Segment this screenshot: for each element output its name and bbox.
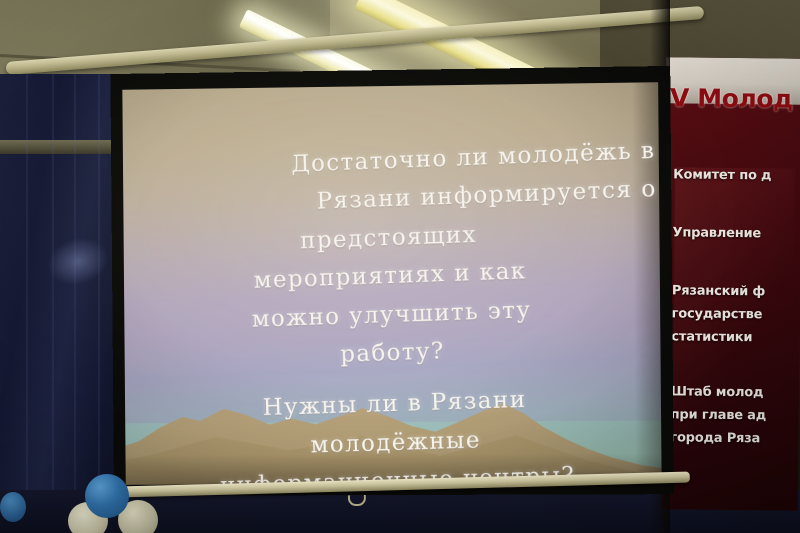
slide-text-block: Достаточно ли молодёжь в Рязани информир… xyxy=(122,82,661,485)
projection-screen-surface: Достаточно ли молодёжь в Рязани информир… xyxy=(122,82,661,485)
banner-line-8: города Ряза xyxy=(670,430,760,446)
balloon-blue xyxy=(85,474,129,518)
banner-line-7: при главе ад xyxy=(671,407,767,423)
curtain-fold xyxy=(98,74,100,533)
slide-line-1: Достаточно ли молодёжь в xyxy=(122,137,661,184)
slide-line-7: Нужны ли в Рязани xyxy=(128,382,662,425)
banner-line-6: Штаб молод xyxy=(671,384,764,400)
curtain-fold xyxy=(26,74,28,533)
slide-line-6: работу? xyxy=(126,331,662,375)
window-curtain xyxy=(0,74,122,533)
banner-line-3: Рязанский ф xyxy=(672,283,765,299)
curtain-fold xyxy=(52,74,54,533)
banner-line-5: статистики xyxy=(671,329,752,345)
banner-line-1: Комитет по д xyxy=(673,167,771,183)
banner-title: V Молод xyxy=(670,83,793,113)
curtain-rod xyxy=(0,140,122,154)
curtain-fold xyxy=(74,74,76,533)
slide-line-3: предстоящих xyxy=(122,215,658,260)
banner-line-2: Управление xyxy=(672,225,761,241)
banner-line-4: государстве xyxy=(672,306,763,322)
balloon-blue-small xyxy=(0,492,26,522)
event-banner: V Молод Комитет по д Управление Рязански… xyxy=(662,57,800,510)
photo-scene: V Молод Комитет по д Управление Рязански… xyxy=(0,0,800,533)
slide-line-2: Рязани информируется о xyxy=(122,175,661,222)
slide-line-8: молодёжные xyxy=(129,422,661,464)
slide-line-5: можно улучшить эту xyxy=(125,293,661,337)
slide-line-4: мероприятиях и как xyxy=(123,253,659,298)
projection-screen: Достаточно ли молодёжь в Рязани информир… xyxy=(110,66,674,496)
